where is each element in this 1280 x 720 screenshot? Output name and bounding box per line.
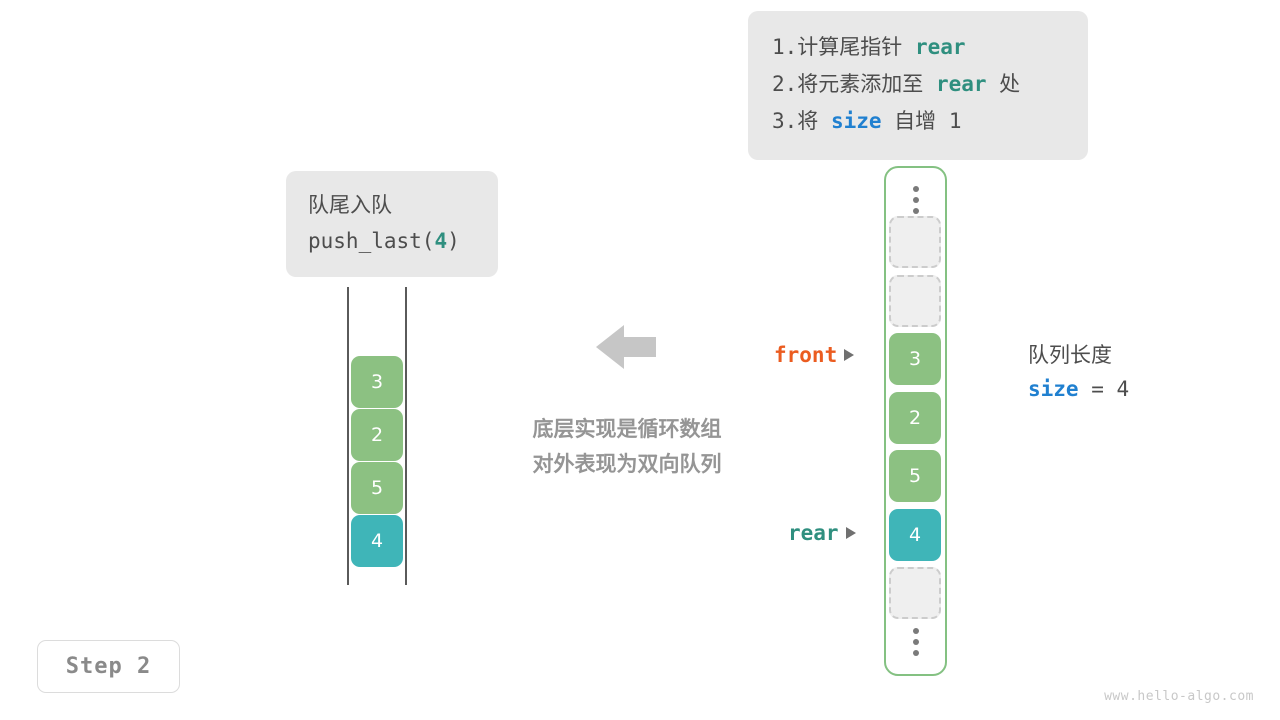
array-bottom-ellipsis-icon — [913, 628, 919, 656]
instruction-step-3-suffix: 自增 1 — [882, 109, 962, 133]
deque-cell-1: 2 — [351, 409, 403, 461]
operation-call-suffix: ) — [447, 229, 460, 253]
instruction-step-2: 2.将元素添加至 rear 处 — [772, 66, 1066, 103]
watermark: www.hello-algo.com — [1104, 689, 1254, 704]
array-slot-1 — [889, 275, 941, 327]
front-pointer-label: front — [774, 343, 854, 367]
center-caption-line-2: 对外表现为双向队列 — [502, 447, 752, 482]
size-value: 4 — [1117, 377, 1130, 401]
array-top-ellipsis-icon — [913, 186, 919, 214]
center-caption: 底层实现是循环数组 对外表现为双向队列 — [502, 412, 752, 482]
deque-rail-left — [347, 287, 349, 585]
size-variable-name: size — [1028, 377, 1079, 401]
rear-pointer-text: rear — [788, 521, 839, 545]
size-annotation-title: 队列长度 — [1028, 340, 1218, 371]
array-slot-6 — [889, 567, 941, 619]
instruction-box: 1.计算尾指针 rear 2.将元素添加至 rear 处 3.将 size 自增… — [748, 11, 1088, 160]
center-caption-line-1: 底层实现是循环数组 — [502, 412, 752, 447]
deque-cell-0: 3 — [351, 356, 403, 408]
operation-call: push_last(4) — [308, 223, 476, 259]
size-annotation-expr: size = 4 — [1028, 371, 1218, 407]
array-slot-3: 2 — [889, 392, 941, 444]
instruction-step-2-suffix: 处 — [987, 72, 1021, 96]
operation-call-prefix: push_last( — [308, 229, 434, 253]
instruction-step-2-text: 将元素添加至 — [797, 72, 936, 96]
deque-container: 3 2 5 4 — [347, 287, 407, 585]
front-pointer-arrow-icon — [844, 349, 854, 361]
instruction-step-3-text: 将 — [797, 109, 831, 133]
step-badge: Step 2 — [37, 640, 180, 693]
instruction-step-2-keyword: rear — [936, 72, 987, 96]
size-annotation: 队列长度 size = 4 — [1028, 340, 1218, 407]
left-arrow-icon — [596, 323, 656, 371]
front-pointer-text: front — [774, 343, 837, 367]
instruction-step-1-keyword: rear — [915, 35, 966, 59]
size-equals: = — [1079, 377, 1117, 401]
instruction-step-3-keyword: size — [831, 109, 882, 133]
instruction-step-1-text: 计算尾指针 — [797, 35, 915, 59]
operation-title: 队尾入队 — [308, 187, 476, 223]
array-slot-0 — [889, 216, 941, 268]
rear-pointer-arrow-icon — [846, 527, 856, 539]
deque-cell-2: 5 — [351, 462, 403, 514]
instruction-step-1-num: 1. — [772, 35, 797, 59]
circular-array-container: 3 2 5 4 — [884, 166, 947, 676]
operation-label-box: 队尾入队 push_last(4) — [286, 171, 498, 277]
deque-rail-right — [405, 287, 407, 585]
operation-call-arg: 4 — [434, 229, 447, 253]
instruction-step-1: 1.计算尾指针 rear — [772, 29, 1066, 66]
array-slot-4: 5 — [889, 450, 941, 502]
array-slot-5: 4 — [889, 509, 941, 561]
instruction-step-3-num: 3. — [772, 109, 797, 133]
array-slot-2: 3 — [889, 333, 941, 385]
instruction-step-3: 3.将 size 自增 1 — [772, 103, 1066, 140]
instruction-step-2-num: 2. — [772, 72, 797, 96]
rear-pointer-label: rear — [788, 521, 856, 545]
deque-cell-3: 4 — [351, 515, 403, 567]
